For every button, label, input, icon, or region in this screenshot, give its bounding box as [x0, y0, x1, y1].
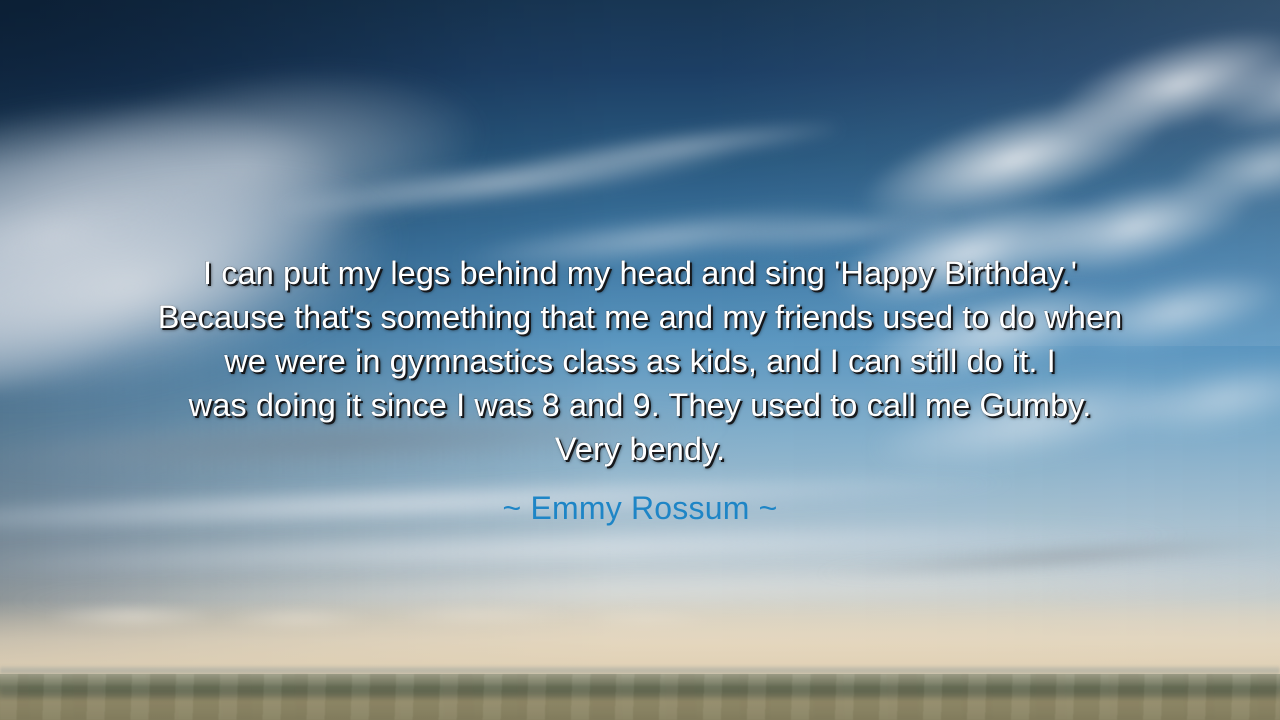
horizon-line — [0, 665, 1280, 674]
quote-block: I can put my legs behind my head and sin… — [65, 251, 1215, 529]
quote-attribution: ~ Emmy Rossum ~ — [65, 487, 1215, 529]
quote-image-stage: I can put my legs behind my head and sin… — [0, 0, 1280, 720]
quote-text: I can put my legs behind my head and sin… — [65, 251, 1215, 471]
land-texture-streaks — [0, 674, 1280, 720]
